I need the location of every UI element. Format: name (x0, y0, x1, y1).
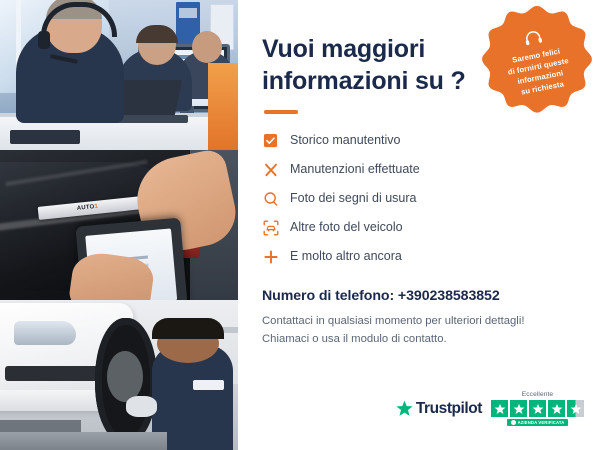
headset-icon (522, 29, 544, 52)
headline-line-1: Vuoi maggiori (262, 35, 425, 63)
agent-mid-hair (136, 25, 178, 43)
gauge-brand-text: AUTO1 (77, 203, 99, 214)
star-rating (491, 400, 584, 417)
star-filled (529, 400, 546, 417)
headset-earcup (38, 31, 50, 49)
magnifier-icon (262, 190, 279, 207)
list-item-label: Manutenzioni effettuate (290, 163, 420, 176)
list-item: Altre foto del veicolo (262, 213, 574, 242)
trustpilot-wordmark: Trustpilot (416, 400, 482, 418)
mechanic-glove (126, 396, 157, 417)
vehicle-lift-platform (0, 432, 167, 450)
photo-column: AUTO1 (0, 0, 238, 450)
star-filled (491, 400, 508, 417)
features-list: Storico manutentivo Manutenzioni effettu… (262, 126, 574, 271)
contact-subtext-line-1: Contattaci in qualsiasi momento per ulte… (262, 315, 524, 327)
request-info-badge: Saremo felici di fornirti queste informa… (481, 4, 593, 116)
star-filled (548, 400, 565, 417)
front-grille (5, 366, 100, 381)
call-center-agents-photo (0, 0, 238, 150)
list-item: Foto dei segni di usura (262, 184, 574, 213)
badge-content: Saremo felici di fornirti queste informa… (471, 0, 600, 126)
trustpilot-widget[interactable]: Trustpilot Eccellente AZIENDA VERIFICATA (396, 391, 584, 426)
list-item: Storico manutentivo (262, 126, 574, 155)
star-half (567, 400, 584, 417)
list-item-label: Storico manutentivo (290, 134, 400, 147)
rating-label: Eccellente (522, 391, 553, 398)
trustpilot-logo: Trustpilot (396, 400, 482, 418)
mechanic-wheel-check-photo (0, 300, 238, 450)
plus-icon (262, 248, 279, 265)
crossed-tools-icon (262, 161, 279, 178)
car-scan-frame-icon (262, 219, 279, 236)
list-item: Manutenzioni effettuate (262, 155, 574, 184)
checkbox-checked-icon (262, 132, 279, 149)
verified-label: AZIENDA VERIFICATA (518, 420, 565, 425)
promo-banner: AUTO1 Vuoi maggiori inf (0, 0, 600, 450)
orange-panel (208, 63, 238, 150)
list-item: E molto altro ancora (262, 242, 574, 271)
verified-check-icon (511, 420, 516, 425)
list-item-label: E molto altro ancora (290, 250, 402, 263)
trustpilot-star-icon (396, 400, 413, 417)
keyboard (10, 130, 80, 144)
headline-line-2: informazioni su ? (262, 67, 466, 95)
contact-subtext-line-2: Chiamaci o usa il modulo di contatto. (262, 333, 447, 345)
list-item-label: Altre foto del veicolo (290, 221, 403, 234)
trustpilot-rating: Eccellente AZIENDA VERIFICATA (491, 391, 584, 426)
list-item-label: Foto dei segni di usura (290, 192, 416, 205)
star-filled (510, 400, 527, 417)
badge-text: Saremo felici di fornirti queste informa… (493, 43, 586, 102)
content-panel: Vuoi maggiori informazioni su ? Storico … (238, 0, 600, 450)
phone-number-label: Numero di telefono: +390238583852 (262, 288, 574, 304)
headlight (14, 321, 76, 345)
wheel-rim (107, 351, 143, 402)
mechanic-hair (152, 318, 223, 339)
agent-far-head (192, 31, 222, 63)
title-underline-rule (264, 110, 298, 114)
vehicle-inspection-tablet-photo: AUTO1 (0, 150, 238, 300)
contact-subtext: Contattaci in qualsiasi momento per ulte… (262, 313, 574, 348)
verified-company-badge: AZIENDA VERIFICATA (507, 419, 569, 426)
uniform-logo-patch (193, 380, 224, 391)
